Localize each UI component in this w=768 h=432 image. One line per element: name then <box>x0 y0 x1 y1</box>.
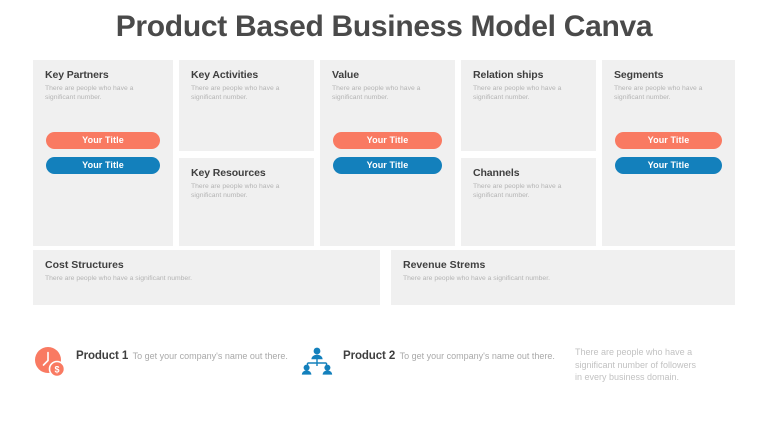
pill-button-secondary[interactable]: Your Title <box>615 157 722 174</box>
card-heading: Revenue Strems <box>391 250 735 272</box>
card-heading: Key Activities <box>179 60 314 82</box>
feature-heading: Product 1 <box>76 350 128 362</box>
feature-product-1[interactable]: $ Product 1 To get your company's name o… <box>33 344 288 379</box>
footer-note-line: There are people who have a <box>575 346 750 359</box>
svg-text:$: $ <box>54 364 59 374</box>
card-key-partners[interactable]: Key Partners There are people who have a… <box>33 60 173 246</box>
card-relation-ships[interactable]: Relation ships There are people who have… <box>461 60 596 151</box>
card-revenue-streams[interactable]: Revenue Strems There are people who have… <box>391 250 735 305</box>
card-subtitle: There are people who have a significant … <box>602 82 735 102</box>
footer-note-line: in every business domain. <box>575 371 750 384</box>
card-heading: Channels <box>461 158 596 180</box>
card-subtitle: There are people who have a significant … <box>461 82 596 102</box>
card-cost-structures[interactable]: Cost Structures There are people who hav… <box>33 250 380 305</box>
pill-group: Your Title Your Title <box>333 132 442 174</box>
card-subtitle: There are people who have a significant … <box>179 180 314 200</box>
feature-text: Product 2 To get your company's name out… <box>343 344 555 364</box>
canvas-column-segments: Segments There are people who have a sig… <box>602 60 735 246</box>
canvas-column-key-activities: Key Activities There are people who have… <box>179 60 314 246</box>
card-subtitle: There are people who have a significant … <box>320 82 455 102</box>
feature-text: Product 1 To get your company's name out… <box>76 344 288 364</box>
footer-note: There are people who have a significant … <box>575 346 750 384</box>
card-heading: Cost Structures <box>33 250 380 272</box>
card-subtitle: There are people who have a significant … <box>179 82 314 102</box>
footer-note-line: significant number of followers <box>575 359 750 372</box>
slide-root: Product Based Business Model Canva Key P… <box>0 0 768 432</box>
card-heading: Key Resources <box>179 158 314 180</box>
page-title: Product Based Business Model Canva <box>0 6 768 48</box>
business-model-canvas: Key Partners There are people who have a… <box>33 60 735 246</box>
canvas-column-value: Value There are people who have a signif… <box>320 60 455 246</box>
feature-subtitle: To get your company's name out there. <box>133 349 288 361</box>
pill-button-primary[interactable]: Your Title <box>333 132 442 149</box>
card-heading: Relation ships <box>461 60 596 82</box>
card-subtitle: There are people who have a significant … <box>391 272 735 283</box>
card-heading: Segments <box>602 60 735 82</box>
pill-group: Your Title Your Title <box>46 132 160 174</box>
card-key-resources[interactable]: Key Resources There are people who have … <box>179 158 314 246</box>
card-subtitle: There are people who have a significant … <box>33 272 380 283</box>
canvas-column-relationships: Relation ships There are people who have… <box>461 60 596 246</box>
canvas-column-key-partners: Key Partners There are people who have a… <box>33 60 173 246</box>
pill-button-secondary[interactable]: Your Title <box>46 157 160 174</box>
clock-dollar-icon: $ <box>33 345 67 379</box>
feature-product-2[interactable]: Product 2 To get your company's name out… <box>300 344 555 379</box>
card-subtitle: There are people who have a significant … <box>461 180 596 200</box>
card-heading: Value <box>320 60 455 82</box>
canvas-bottom-row: Cost Structures There are people who hav… <box>33 250 735 305</box>
pill-button-primary[interactable]: Your Title <box>615 132 722 149</box>
pill-group: Your Title Your Title <box>615 132 722 174</box>
card-heading: Key Partners <box>33 60 173 82</box>
pill-button-secondary[interactable]: Your Title <box>333 157 442 174</box>
card-subtitle: There are people who have a significant … <box>33 82 173 102</box>
pill-button-primary[interactable]: Your Title <box>46 132 160 149</box>
feature-heading: Product 2 <box>343 350 395 362</box>
card-channels[interactable]: Channels There are people who have a sig… <box>461 158 596 246</box>
card-value[interactable]: Value There are people who have a signif… <box>320 60 455 246</box>
card-key-activities[interactable]: Key Activities There are people who have… <box>179 60 314 151</box>
footer: $ Product 1 To get your company's name o… <box>0 340 768 400</box>
org-people-icon <box>300 345 334 379</box>
card-segments[interactable]: Segments There are people who have a sig… <box>602 60 735 246</box>
feature-subtitle: To get your company's name out there. <box>400 349 555 361</box>
